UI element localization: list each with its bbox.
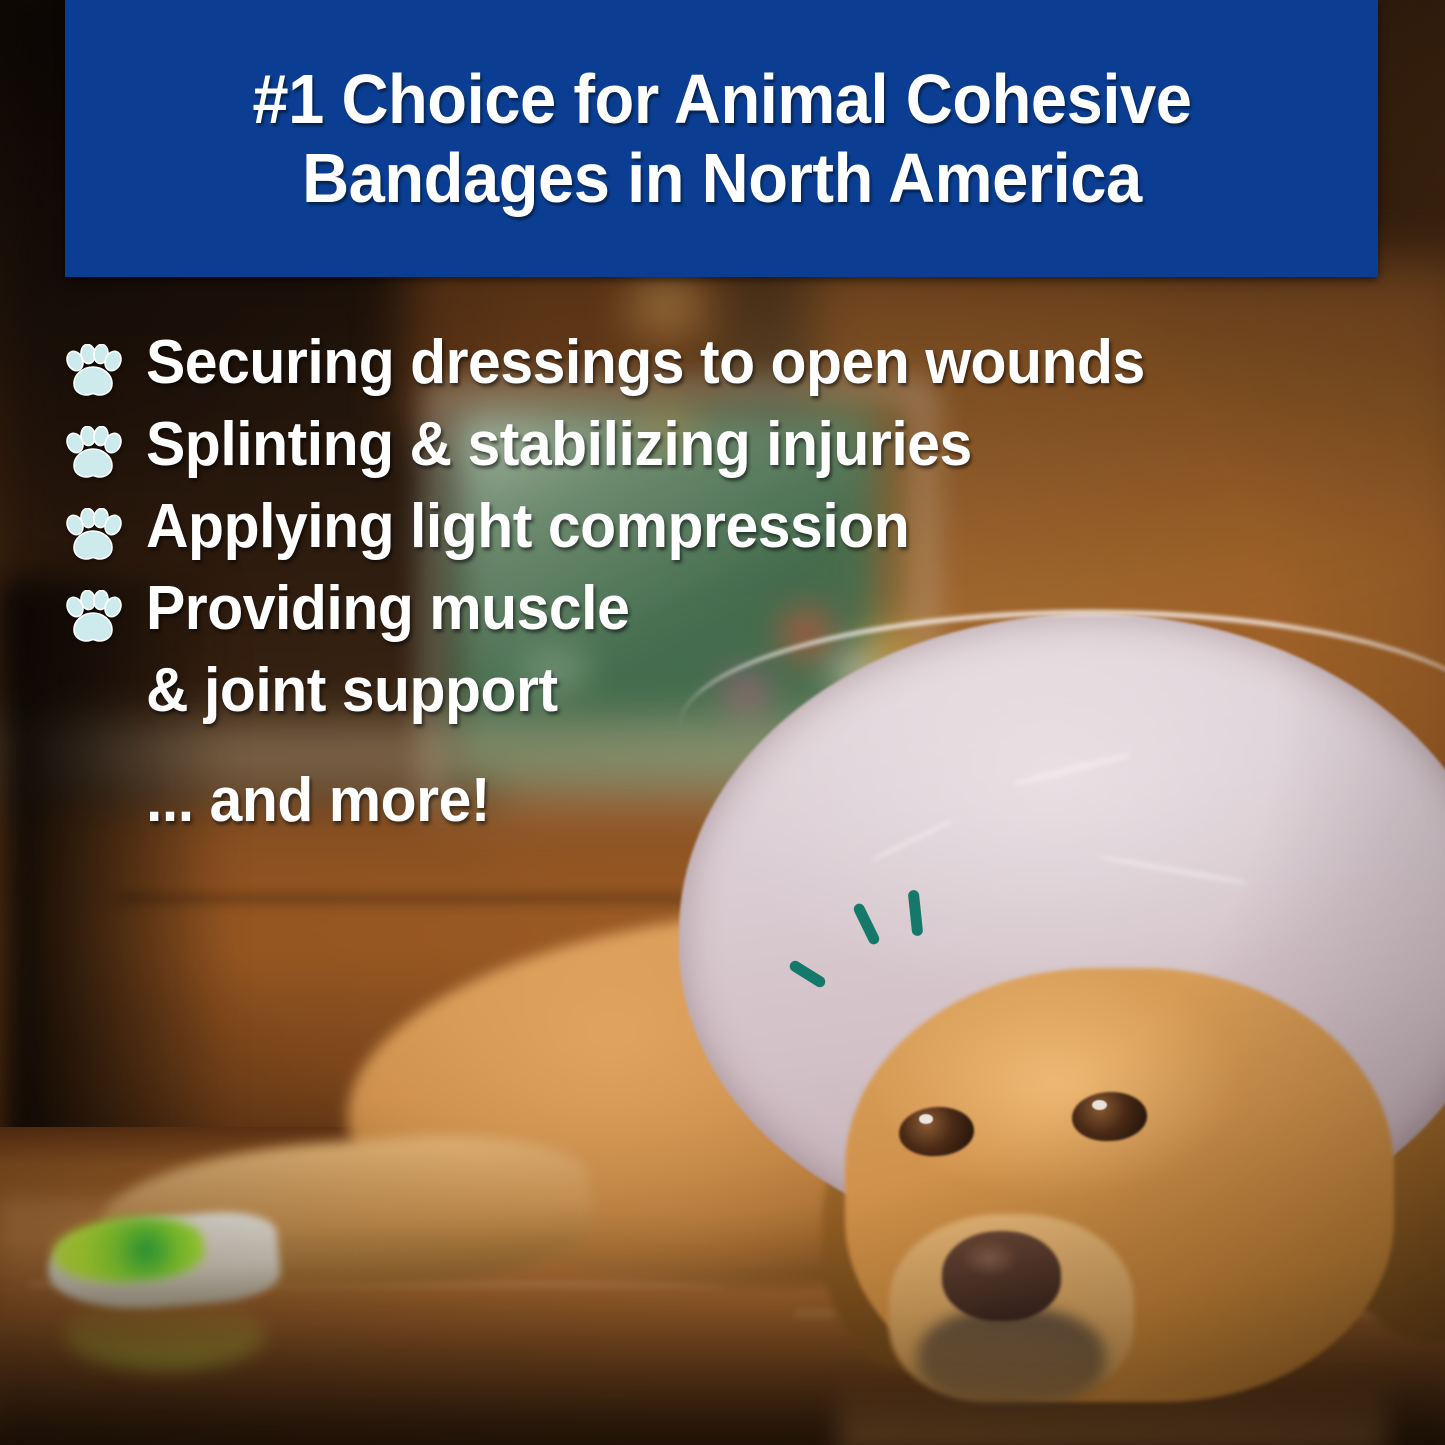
- headline-text: #1 Choice for Animal Cohesive Bandages i…: [233, 60, 1209, 217]
- headline-banner: #1 Choice for Animal Cohesive Bandages i…: [65, 0, 1378, 277]
- paw-print-icon: [62, 508, 124, 566]
- list-item: Securing dressings to open wounds: [62, 330, 1422, 402]
- list-item-label: Applying light compression: [146, 494, 909, 560]
- list-item: Splinting & stabilizing injuries: [62, 412, 1422, 484]
- paw-print-icon: [62, 426, 124, 484]
- paw-print-icon: [62, 590, 124, 648]
- paw-print-icon: [62, 344, 124, 402]
- list-item: Providing muscle: [62, 576, 1422, 648]
- benefit-list: Securing dressings to open wounds Splint…: [62, 330, 1422, 833]
- list-item-label: Securing dressings to open wounds: [146, 330, 1145, 396]
- promo-image: #1 Choice for Animal Cohesive Bandages i…: [0, 0, 1445, 1445]
- list-item: Applying light compression: [62, 494, 1422, 566]
- list-item-label: Splinting & stabilizing injuries: [146, 412, 972, 478]
- list-item-continuation: & joint support: [146, 658, 1358, 724]
- and-more-label: ... and more!: [146, 768, 1358, 834]
- list-item-label: Providing muscle: [146, 576, 629, 642]
